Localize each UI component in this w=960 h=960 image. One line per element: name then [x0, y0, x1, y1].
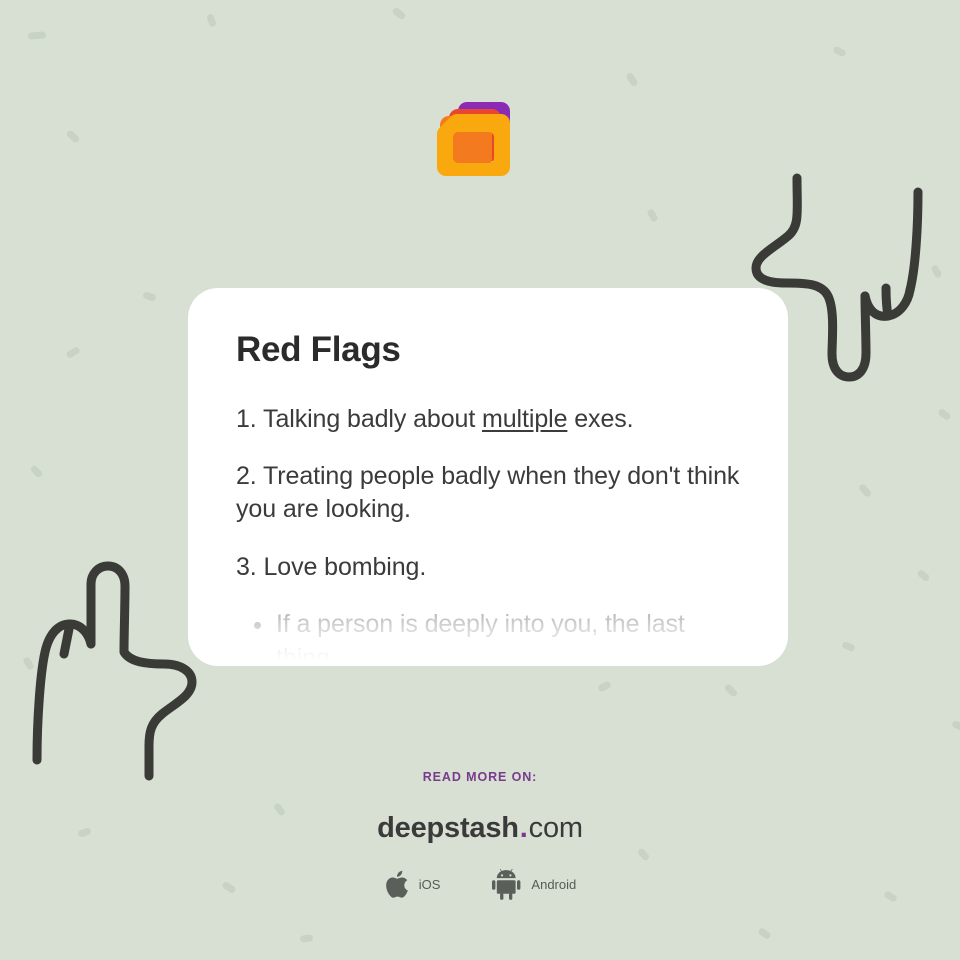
content-card: Red Flags 1. Talking badly about multipl… [188, 288, 788, 666]
footer: READ MORE ON: deepstash.com iOS [0, 760, 960, 900]
confetti-dash [646, 208, 659, 223]
list-item-text: 1. Talking badly about [236, 405, 482, 433]
list-item-suffix: exes. [567, 405, 633, 433]
confetti-dash [724, 683, 739, 698]
card-title: Red Flags [236, 332, 740, 369]
list-item: If a person is deeply into you, the last… [276, 608, 740, 666]
app-store-badges: iOS Android [0, 869, 960, 900]
ios-store-badge[interactable]: iOS [384, 869, 441, 900]
brand-dot: . [520, 812, 528, 844]
confetti-dash [951, 720, 960, 731]
confetti-dash [65, 346, 81, 359]
confetti-dash [858, 483, 872, 498]
card-content: Red Flags 1. Talking badly about multipl… [188, 288, 788, 666]
confetti-dash [28, 31, 46, 39]
confetti-dash [841, 641, 856, 652]
confetti-dash [597, 681, 612, 693]
list-item: 3. Love bombing. [236, 551, 740, 584]
card-bullet-list: If a person is deeply into you, the last… [236, 608, 740, 666]
confetti-dash [625, 72, 639, 87]
confetti-dash [832, 45, 847, 57]
list-item-emphasis[interactable]: multiple [482, 405, 567, 433]
brand-tld: com [529, 812, 583, 844]
brand-wordmark[interactable]: deepstash.com [0, 812, 960, 845]
confetti-dash [757, 927, 772, 940]
android-store-label: Android [531, 877, 576, 892]
ios-store-label: iOS [419, 877, 441, 892]
brand-name: deepstash [377, 812, 519, 844]
confetti-dash [65, 129, 80, 144]
android-icon [492, 869, 522, 900]
confetti-dash [142, 291, 157, 302]
confetti-dash [937, 408, 952, 421]
list-item: 1. Talking badly about multiple exes. [236, 403, 740, 436]
read-more-label: READ MORE ON: [0, 770, 960, 784]
poster-canvas: Red Flags 1. Talking badly about multipl… [0, 0, 960, 960]
confetti-dash [391, 6, 406, 20]
android-store-badge[interactable]: Android [492, 869, 576, 900]
confetti-dash [300, 934, 314, 943]
confetti-dash [206, 13, 217, 28]
confetti-dash [916, 569, 930, 583]
pointing-hand-up-icon [18, 556, 208, 784]
confetti-dash [29, 464, 43, 478]
list-item: 2. Treating people badly when they don't… [236, 460, 740, 527]
apple-icon [384, 869, 410, 900]
deepstash-logo [426, 100, 522, 196]
